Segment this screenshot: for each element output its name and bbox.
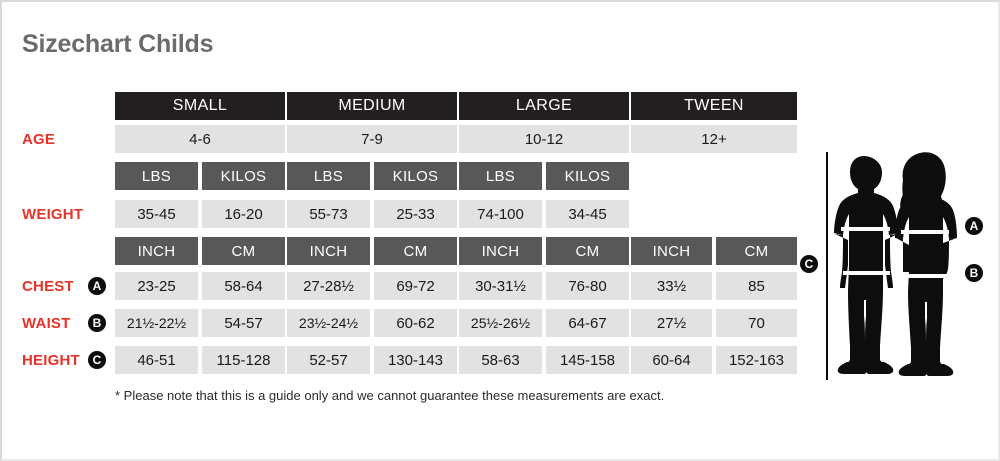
unit-header-measure-tween-inch: INCH — [631, 237, 712, 265]
waist-small-inch: 21½-22½ — [115, 309, 198, 337]
chest-large-cm: 76-80 — [546, 272, 629, 300]
age-medium: 7-9 — [287, 125, 457, 153]
unit-header-weight-large-kilos: KILOS — [546, 162, 629, 190]
unit-header-weight-small-lbs: LBS — [115, 162, 198, 190]
diagram-marker-a-icon: A — [965, 217, 983, 235]
row-label-height: HEIGHT — [22, 346, 80, 374]
height-large-cm: 145-158 — [546, 346, 629, 374]
waist-small-cm: 54-57 — [202, 309, 285, 337]
weight-medium-kilos: 25-33 — [374, 200, 457, 228]
unit-header-weight-medium-kilos: KILOS — [374, 162, 457, 190]
chest-small-cm: 58-64 — [202, 272, 285, 300]
waist-medium-cm: 60-62 — [374, 309, 457, 337]
row-label-chest: CHEST — [22, 272, 74, 300]
height-medium-inch: 52-57 — [287, 346, 370, 374]
row-label-waist: WAIST — [22, 309, 71, 337]
chest-large-inch: 30-31½ — [459, 272, 542, 300]
unit-header-measure-tween-cm: CM — [716, 237, 797, 265]
chest-medium-cm: 69-72 — [374, 272, 457, 300]
waist-large-inch: 25½-26½ — [459, 309, 542, 337]
weight-small-kilos: 16-20 — [202, 200, 285, 228]
height-tween-inch: 60-64 — [631, 346, 712, 374]
row-label-weight: WEIGHT — [22, 200, 83, 228]
footnote-disclaimer: * Please note that this is a guide only … — [115, 388, 664, 403]
height-large-inch: 58-63 — [459, 346, 542, 374]
height-reference-line — [826, 152, 828, 380]
weight-small-lbs: 35-45 — [115, 200, 198, 228]
size-header-tween: TWEEN — [631, 92, 797, 120]
size-header-small: SMALL — [115, 92, 285, 120]
unit-header-measure-large-cm: CM — [546, 237, 629, 265]
waist-tween-cm: 70 — [716, 309, 797, 337]
size-header-medium: MEDIUM — [287, 92, 457, 120]
unit-header-measure-small-inch: INCH — [115, 237, 198, 265]
height-medium-cm: 130-143 — [374, 346, 457, 374]
size-header-large: LARGE — [459, 92, 629, 120]
unit-header-measure-medium-inch: INCH — [287, 237, 370, 265]
chest-tween-cm: 85 — [716, 272, 797, 300]
weight-large-lbs: 74-100 — [459, 200, 542, 228]
sizechart-page: Sizechart Childs SMALL MEDIUM LARGE TWEE… — [0, 0, 1000, 461]
unit-header-measure-medium-cm: CM — [374, 237, 457, 265]
age-small: 4-6 — [115, 125, 285, 153]
chest-marker-a-icon: A — [88, 277, 106, 295]
weight-large-kilos: 34-45 — [546, 200, 629, 228]
diagram-marker-b-icon: B — [965, 264, 983, 282]
unit-header-measure-large-inch: INCH — [459, 237, 542, 265]
unit-header-weight-small-kilos: KILOS — [202, 162, 285, 190]
age-large: 10-12 — [459, 125, 629, 153]
size-diagram: C A B — [797, 142, 997, 382]
unit-header-measure-small-cm: CM — [202, 237, 285, 265]
unit-header-weight-medium-lbs: LBS — [287, 162, 370, 190]
unit-header-weight-large-lbs: LBS — [459, 162, 542, 190]
chest-medium-inch: 27-28½ — [287, 272, 370, 300]
height-marker-c-icon: C — [88, 351, 106, 369]
waist-medium-inch: 23½-24½ — [287, 309, 370, 337]
waist-large-cm: 64-67 — [546, 309, 629, 337]
height-small-cm: 115-128 — [202, 346, 285, 374]
child-silhouettes-icon — [831, 150, 961, 378]
height-small-inch: 46-51 — [115, 346, 198, 374]
page-title: Sizechart Childs — [22, 30, 213, 59]
diagram-marker-c-icon: C — [800, 255, 818, 273]
age-tween: 12+ — [631, 125, 797, 153]
chest-tween-inch: 33½ — [631, 272, 712, 300]
chest-small-inch: 23-25 — [115, 272, 198, 300]
height-tween-cm: 152-163 — [716, 346, 797, 374]
waist-tween-inch: 27½ — [631, 309, 712, 337]
row-label-age: AGE — [22, 125, 55, 153]
weight-medium-lbs: 55-73 — [287, 200, 370, 228]
waist-marker-b-icon: B — [88, 314, 106, 332]
